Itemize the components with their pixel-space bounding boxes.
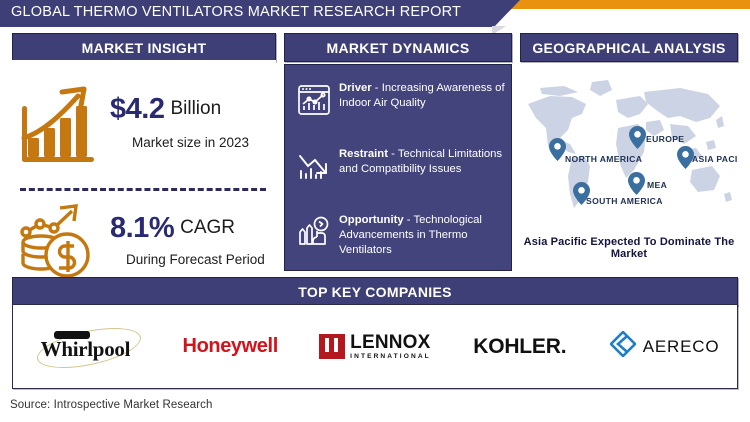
dynamics-opportunity-sep: - — [404, 214, 414, 226]
honeywell-wordmark: Honeywell — [183, 335, 278, 358]
aereco-wordmark: AERECO — [643, 337, 720, 357]
market-dynamics-header: MARKET DYNAMICS — [284, 33, 512, 62]
whirlpool-wordmark: Whirlpool — [26, 337, 144, 362]
company-logo-strip: Whirlpool Honeywell LENNOX INTERNATIONAL… — [12, 304, 738, 389]
top-key-companies-header: TOP KEY COMPANIES — [12, 277, 738, 306]
market-size-unit: Billion — [164, 98, 221, 120]
dynamics-item-opportunity: Opportunity - Technological Advancements… — [291, 209, 505, 258]
market-size-value: $4.2 — [110, 95, 164, 124]
map-label-asia-pacific: ASIA PACIFIC — [692, 154, 738, 164]
market-dynamics-panel: MARKET DYNAMICS — [284, 33, 512, 271]
lennox-subtitle: INTERNATIONAL — [350, 354, 431, 361]
cagr-text: 8.1%CAGR During Forecast Period — [106, 214, 276, 267]
dynamics-opportunity-label: Opportunity — [339, 214, 404, 226]
analytics-dashboard-icon — [291, 77, 337, 123]
top-key-companies-panel: TOP KEY COMPANIES Whirlpool Honeywell LE… — [12, 277, 738, 389]
market-size-row: $4.2Billion Market size in 2023 — [14, 68, 276, 176]
market-dynamics-body: Driver - Increasing Awareness of Indoor … — [284, 64, 512, 271]
header-title-band: GLOBAL THERMO VENTILATORS MARKET RESEARC… — [0, 0, 520, 27]
company-logo-kohler: KOHLER. — [447, 305, 592, 388]
declining-bar-chart-icon — [291, 143, 337, 189]
cagr-row: 8.1%CAGR During Forecast Period — [14, 190, 276, 290]
innovation-hand-bulb-icon — [291, 209, 337, 255]
page-title: GLOBAL THERMO VENTILATORS MARKET RESEARC… — [11, 4, 461, 20]
top-key-companies-title: TOP KEY COMPANIES — [298, 284, 451, 300]
dynamics-opportunity-text: Opportunity - Technological Advancements… — [337, 209, 505, 258]
infographic-page: GLOBAL THERMO VENTILATORS MARKET RESEARC… — [0, 0, 750, 422]
map-label-europe: EUROPE — [646, 134, 684, 144]
market-insight-panel: MARKET INSIGHT — [12, 33, 276, 271]
cagr-value: 8.1% — [110, 214, 174, 243]
lennox-square-mark — [319, 334, 345, 359]
geographical-analysis-title: GEOGRAPHICAL ANALYSIS — [532, 40, 725, 56]
dynamics-restraint-sep: - — [388, 148, 398, 160]
dynamics-restraint-label: Restraint — [339, 148, 388, 160]
map-pin-north-america[interactable] — [549, 138, 566, 161]
source-note: Source: Introspective Market Research — [10, 399, 212, 411]
coins-trend-icon — [14, 194, 106, 286]
dynamics-driver-text: Driver - Increasing Awareness of Indoor … — [337, 77, 505, 111]
market-insight-header: MARKET INSIGHT — [12, 33, 276, 62]
cagr-note: During Forecast Period — [110, 252, 276, 267]
geographical-analysis-body: NORTH AMERICA EUROPE ASIA PACIFIC MEA SO… — [520, 64, 738, 271]
geographical-analysis-header: GEOGRAPHICAL ANALYSIS — [520, 33, 738, 62]
map-label-south-america: SOUTH AMERICA — [586, 196, 663, 206]
company-logo-honeywell: Honeywell — [158, 305, 303, 388]
map-pin-europe[interactable] — [629, 126, 646, 149]
map-label-north-america: NORTH AMERICA — [565, 154, 642, 164]
dynamics-item-restraint: Restraint - Technical Limitations and Co… — [291, 143, 505, 189]
lennox-wordmark: LENNOX — [350, 333, 431, 352]
company-logo-lennox: LENNOX INTERNATIONAL — [303, 305, 448, 388]
bar-chart-growth-icon — [14, 76, 106, 168]
market-size-text: $4.2Billion Market size in 2023 — [106, 95, 276, 150]
market-dynamics-title: MARKET DYNAMICS — [327, 40, 470, 56]
cagr-unit: CAGR — [174, 217, 235, 239]
dynamics-driver-label: Driver — [339, 82, 372, 94]
company-logo-whirlpool: Whirlpool — [13, 305, 158, 388]
map-label-mea: MEA — [647, 180, 667, 190]
company-logo-aereco: AERECO — [592, 305, 737, 388]
dynamics-restraint-text: Restraint - Technical Limitations and Co… — [337, 143, 505, 177]
map-pin-mea[interactable] — [628, 172, 645, 195]
kohler-wordmark: KOHLER. — [473, 335, 566, 359]
geographical-analysis-panel: GEOGRAPHICAL ANALYSIS — [520, 33, 738, 271]
dynamics-item-driver: Driver - Increasing Awareness of Indoor … — [291, 77, 505, 123]
market-insight-title: MARKET INSIGHT — [82, 40, 207, 56]
aereco-diamond-mark — [610, 331, 636, 362]
dynamics-driver-sep: - — [372, 82, 382, 94]
market-insight-body: $4.2Billion Market size in 2023 — [12, 60, 276, 271]
market-size-note: Market size in 2023 — [110, 135, 276, 150]
map-caption: Asia Pacific Expected To Dominate The Ma… — [520, 236, 738, 260]
